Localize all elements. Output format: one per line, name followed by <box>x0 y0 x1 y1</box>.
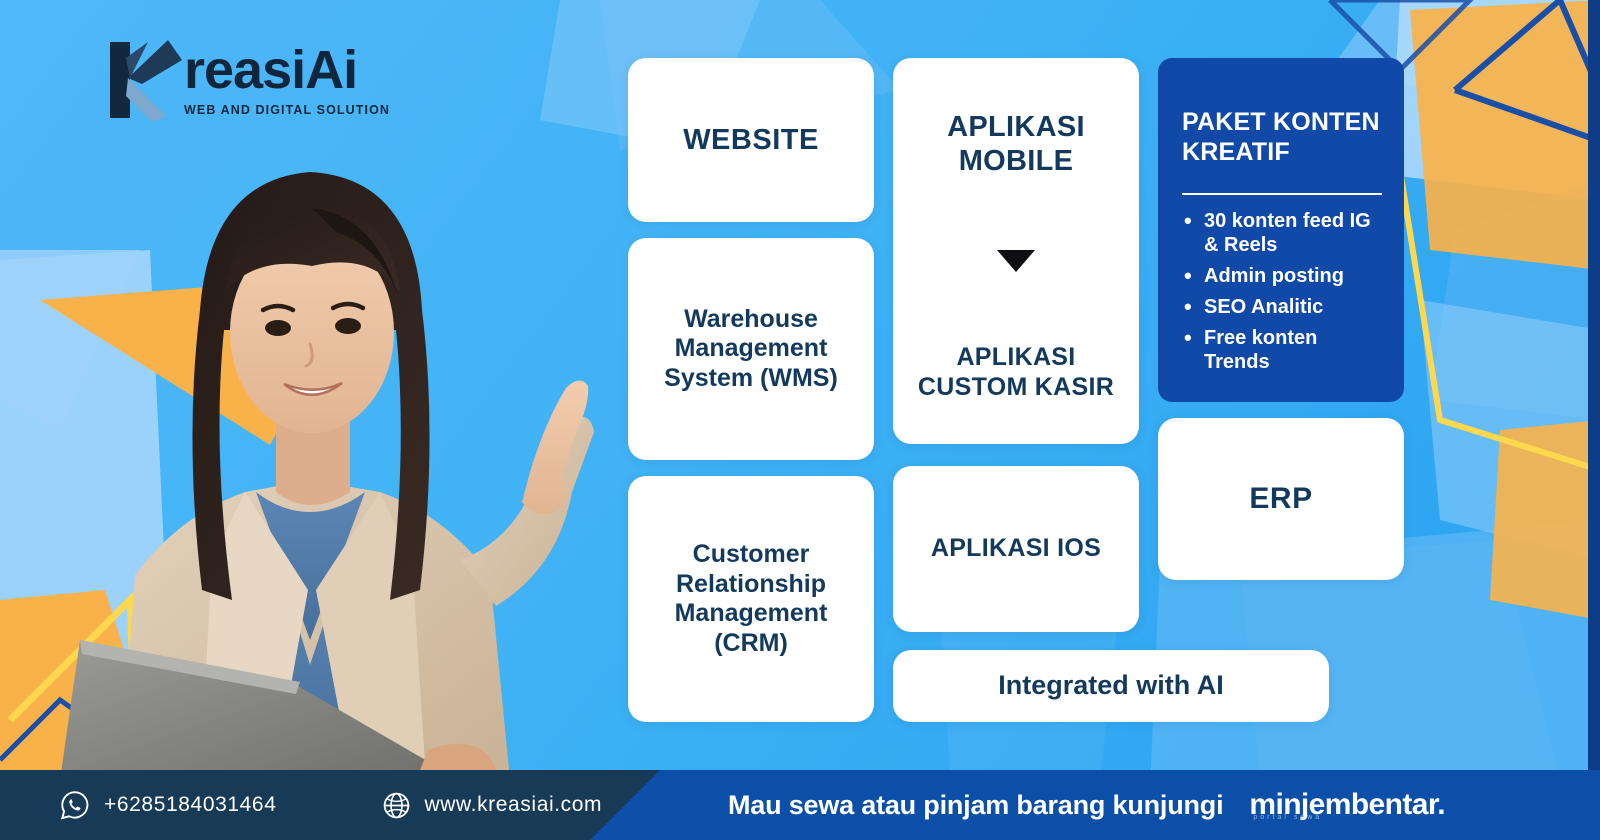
service-card-wms[interactable]: Warehouse Management System (WMS) <box>628 238 874 460</box>
service-card-crm-label: Customer Relationship Management (CRM) <box>644 540 858 658</box>
footer-phone-text: +6285184031464 <box>104 793 277 817</box>
package-feature-item: Free konten Trends <box>1182 326 1382 374</box>
presenter-photo <box>60 120 620 780</box>
service-card-ios[interactable]: APLIKASI IOS <box>893 466 1139 632</box>
brand-logo: reasiAi WEB AND DIGITAL SOLUTION <box>108 38 390 122</box>
service-card-ai-label: Integrated with AI <box>998 670 1224 702</box>
service-card-mobile[interactable]: APLIKASI MOBILE APLIKASI CUSTOM KASIR <box>893 58 1139 444</box>
globe-icon <box>382 791 411 820</box>
footer-cta-message: Mau sewa atau pinjam barang kunjungi <box>728 790 1223 821</box>
service-card-crm[interactable]: Customer Relationship Management (CRM) <box>628 476 874 722</box>
footer-partner-logo[interactable]: minjembentar. portal sewa <box>1249 788 1445 822</box>
footer-bar: +6285184031464 www.kreasiai.com Mau sewa… <box>0 770 1600 840</box>
whatsapp-icon <box>60 790 90 820</box>
package-feature-item: SEO Analitic <box>1182 295 1382 319</box>
service-card-erp[interactable]: ERP <box>1158 418 1404 580</box>
footer-website-text: www.kreasiai.com <box>425 793 603 817</box>
footer-partner-subtitle: portal sewa <box>1253 814 1322 821</box>
package-card-konten-kreatif[interactable]: PAKET KONTEN KREATIF 30 konten feed IG &… <box>1158 58 1404 402</box>
logo-wordmark: reasiAi <box>184 43 390 97</box>
service-card-website[interactable]: WEBSITE <box>628 58 874 222</box>
service-card-mobile-label: APLIKASI MOBILE <box>909 110 1123 178</box>
caret-down-icon <box>997 250 1035 272</box>
k-monogram-icon <box>108 38 182 122</box>
package-card-title: PAKET KONTEN KREATIF <box>1182 108 1382 167</box>
service-card-wms-label: Warehouse Management System (WMS) <box>644 305 858 394</box>
package-feature-list: 30 konten feed IG & Reels Admin posting … <box>1182 209 1382 374</box>
service-card-ios-label: APLIKASI IOS <box>931 534 1101 564</box>
footer-website[interactable]: www.kreasiai.com <box>382 791 603 820</box>
footer-whatsapp[interactable]: +6285184031464 <box>60 790 277 820</box>
service-card-ai[interactable]: Integrated with AI <box>893 650 1329 722</box>
service-card-website-label: WEBSITE <box>683 123 819 157</box>
service-card-kasir-label: APLIKASI CUSTOM KASIR <box>909 343 1123 402</box>
footer-cta[interactable]: Mau sewa atau pinjam barang kunjungi min… <box>728 770 1445 840</box>
package-feature-item: Admin posting <box>1182 264 1382 288</box>
package-feature-item: 30 konten feed IG & Reels <box>1182 209 1382 257</box>
service-card-erp-label: ERP <box>1249 481 1312 516</box>
package-card-divider <box>1182 193 1382 195</box>
logo-tagline: WEB AND DIGITAL SOLUTION <box>184 103 390 117</box>
